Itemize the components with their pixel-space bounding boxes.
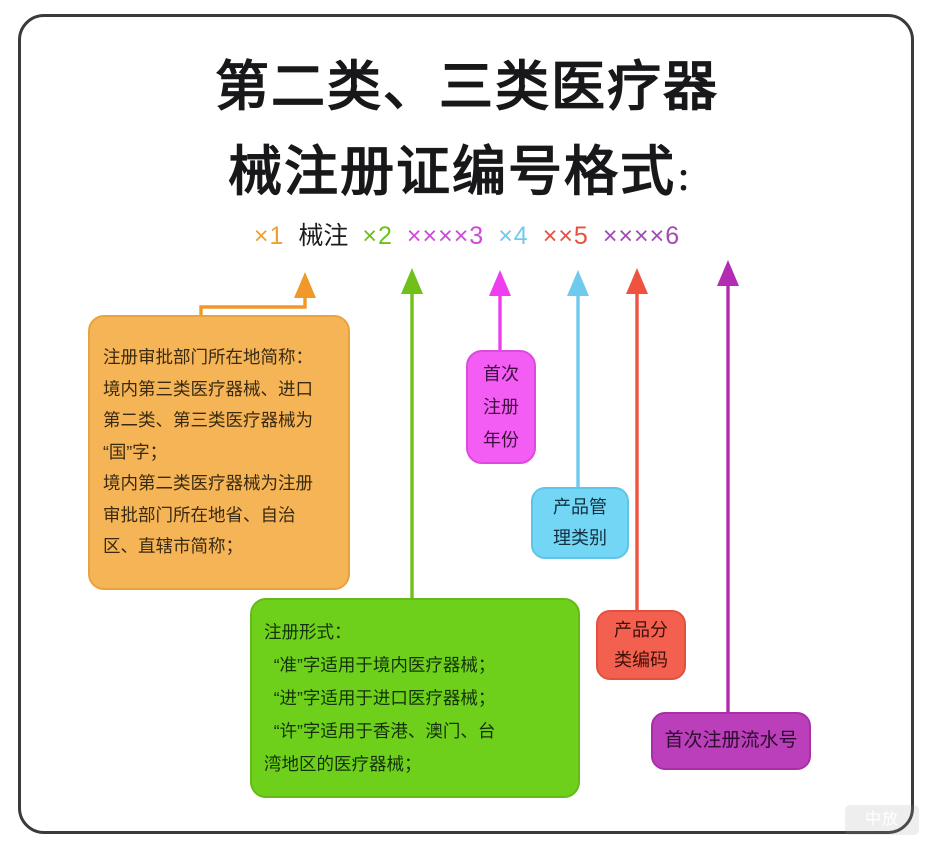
page-title-line-1: 第二类、三类医疗器 (0, 56, 934, 118)
callout-line: 年份 (483, 424, 519, 457)
formula-segment-2: 械注 (298, 221, 348, 251)
infographic-canvas: 第二类、三类医疗器 械注册证编号格式： ×1械注×2××××3×4××5××××… (0, 0, 934, 852)
callout-first-registration-serial[interactable]: 首次注册流水号 (651, 712, 811, 770)
callout-registration-authority[interactable]: 注册审批部门所在地简称： 境内第三类医疗器械、进口 第二类、第三类医疗器械为 “… (88, 315, 350, 590)
page-title-line-2: 械注册证编号格式： (0, 141, 934, 212)
formula-segment-7: ××××6 (603, 221, 680, 251)
callout-line: 理类别 (553, 523, 607, 554)
callout-product-management-category[interactable]: 产品管 理类别 (531, 487, 629, 559)
callout-line: 注册 (483, 391, 519, 424)
callout-line: 类编码 (614, 645, 668, 675)
page-title-colon: ： (676, 164, 706, 197)
formula-segment-5: ×4 (498, 221, 529, 251)
callout-line: 产品管 (553, 492, 607, 523)
watermark: 中放 (845, 805, 919, 835)
callout-line: 第二类、第三类医疗器械为 (103, 405, 335, 437)
page-title-line-2-text: 械注册证编号格式 (228, 142, 676, 202)
callout-line: “准”字适用于境内医疗器械； (264, 649, 566, 682)
callout-line: “进”字适用于进口医疗器械； (264, 682, 566, 715)
callout-registration-form[interactable]: 注册形式： “准”字适用于境内医疗器械； “进”字适用于进口医疗器械； “许”字… (250, 598, 580, 798)
callout-line: 境内第三类医疗器械、进口 (103, 374, 335, 406)
callout-first-registration-year[interactable]: 首次 注册 年份 (466, 350, 536, 464)
callout-product-classification-code[interactable]: 产品分 类编码 (596, 610, 686, 680)
callout-line: 首次注册流水号 (664, 727, 797, 755)
formula-segment-4: ××××3 (407, 221, 484, 251)
callout-line: 区、直辖市简称； (103, 531, 335, 563)
formula-segment-3: ×2 (362, 221, 393, 251)
callout-line: 产品分 (614, 615, 668, 645)
callout-line: 注册形式： (264, 616, 566, 649)
callout-line: 审批部门所在地省、自治 (103, 500, 335, 532)
callout-line: 湾地区的医疗器械； (264, 748, 566, 781)
callout-line: “国”字； (103, 437, 335, 469)
registration-number-format-formula: ×1械注×2××××3×4××5××××6 (0, 221, 934, 251)
callout-line: 首次 (483, 358, 519, 391)
callout-line: 注册审批部门所在地简称： (103, 342, 335, 374)
formula-segment-6: ××5 (543, 221, 589, 251)
formula-segment-1: ×1 (254, 221, 285, 251)
callout-line: “许”字适用于香港、澳门、台 (264, 715, 566, 748)
callout-line: 境内第二类医疗器械为注册 (103, 468, 335, 500)
